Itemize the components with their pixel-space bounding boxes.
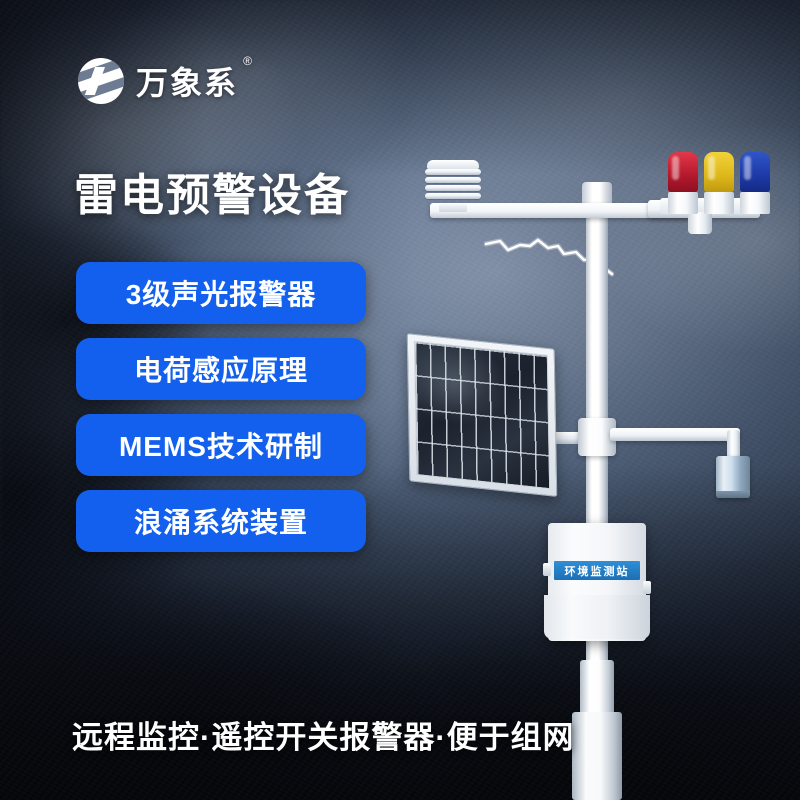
- enclosure-label: 环境监测站: [554, 561, 640, 580]
- shield-plate: [425, 185, 481, 191]
- swoosh-shape: [85, 67, 105, 95]
- yellow-beacon-dome: [704, 152, 734, 192]
- feature-pill-1: 3级声光报警器: [76, 262, 366, 324]
- red-beacon-dome: [668, 152, 698, 192]
- shield-foot: [439, 204, 467, 212]
- blue-alarm-beacon: [740, 152, 770, 214]
- mast-segment-base: [572, 712, 622, 800]
- control-enclosure: 环境监测站: [548, 523, 646, 641]
- registered-trademark-icon: ®: [243, 54, 254, 68]
- downward-sensor: [716, 456, 750, 498]
- feature-pill-3: MEMS技术研制: [76, 414, 366, 476]
- radiation-shield-sensor: [425, 160, 481, 208]
- solar-cells: [414, 341, 550, 489]
- blue-beacon-dome: [740, 152, 770, 192]
- feature-list: 3级声光报警器 电荷感应原理 MEMS技术研制 浪涌系统装置: [76, 262, 366, 552]
- brand-logo: 万象系 ®: [78, 58, 238, 104]
- feature-pill-2: 电荷感应原理: [76, 338, 366, 400]
- page-title: 雷电预警设备: [74, 159, 350, 223]
- enclosure-latch-left: [543, 563, 551, 576]
- shield-plate: [425, 193, 481, 199]
- yellow-alarm-beacon: [704, 152, 734, 214]
- shield-plate: [425, 177, 481, 183]
- brand-mark-icon: [78, 58, 124, 104]
- red-alarm-beacon: [668, 152, 698, 214]
- red-beacon-base: [668, 192, 698, 214]
- blue-beacon-base: [740, 192, 770, 214]
- brand-name: 万象系 ®: [136, 58, 238, 104]
- beacon-mount-stem: [688, 212, 712, 234]
- solar-panel: [407, 333, 558, 497]
- sensor-arm: [610, 428, 740, 441]
- enclosure-latch-right: [643, 581, 651, 594]
- mast-segment-middle: [580, 660, 614, 716]
- enclosure-lower-cover: [544, 595, 650, 639]
- yellow-beacon-base: [704, 192, 734, 214]
- poster-canvas: 环境监测站 万象系 ® 雷电预警设备 3级声光报警器 电荷感应原理 MEMS技术…: [0, 0, 800, 800]
- brand-name-text: 万象系: [136, 65, 238, 101]
- footer-tagline: 远程监控·遥控开关报警器·便于组网: [72, 712, 575, 757]
- shield-plate: [425, 169, 481, 175]
- feature-pill-4: 浪涌系统装置: [76, 490, 366, 552]
- shield-cap: [427, 160, 479, 169]
